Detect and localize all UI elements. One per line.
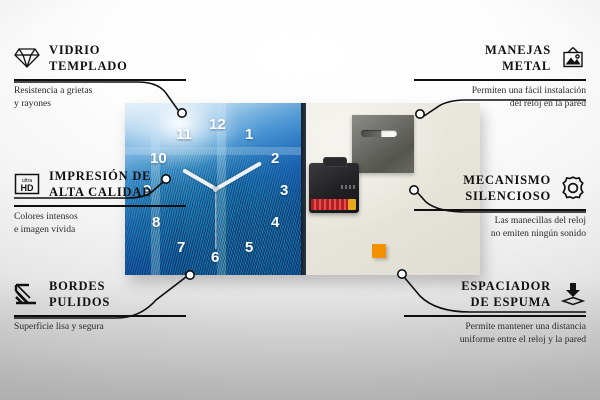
infographic-canvas: 12 1 2 3 4 5 6 7 8 9 10 11 xyxy=(0,0,600,400)
background-vignette xyxy=(0,0,600,400)
